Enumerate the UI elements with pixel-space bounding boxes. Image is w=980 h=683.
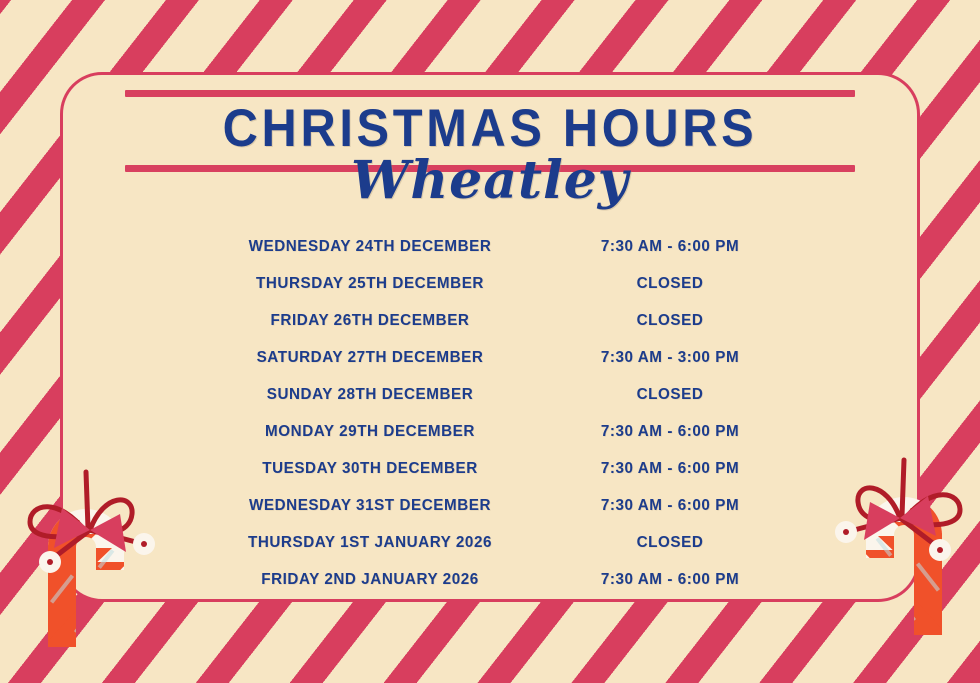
hours-value: CLOSED	[556, 312, 784, 330]
divider-rule-top	[125, 90, 855, 97]
hours-value: 7:30 AM - 6:00 PM	[556, 571, 784, 589]
table-row: FRIDAY 26TH DECEMBER CLOSED	[190, 302, 790, 339]
day-label: FRIDAY 2ND JANUARY 2026	[199, 571, 541, 589]
christmas-hours-poster: CHRISTMAS HOURS Wheatley WEDNESDAY 24TH …	[0, 0, 980, 683]
day-label: WEDNESDAY 24TH DECEMBER	[199, 238, 541, 256]
table-row: WEDNESDAY 31ST DECEMBER 7:30 AM - 6:00 P…	[190, 487, 790, 524]
candy-cane-icon	[8, 452, 168, 652]
hours-value: 7:30 AM - 3:00 PM	[556, 349, 784, 367]
table-row: THURSDAY 25TH DECEMBER CLOSED	[190, 265, 790, 302]
table-row: SUNDAY 28TH DECEMBER CLOSED	[190, 376, 790, 413]
day-label: MONDAY 29TH DECEMBER	[199, 423, 541, 441]
hours-value: 7:30 AM - 6:00 PM	[556, 460, 784, 478]
table-row: SATURDAY 27TH DECEMBER 7:30 AM - 3:00 PM	[190, 339, 790, 376]
hours-value: 7:30 AM - 6:00 PM	[556, 238, 784, 256]
day-label: SATURDAY 27TH DECEMBER	[199, 349, 541, 367]
hours-value: 7:30 AM - 6:00 PM	[556, 423, 784, 441]
table-row: TUESDAY 30TH DECEMBER 7:30 AM - 6:00 PM	[190, 450, 790, 487]
location-subtitle: Wheatley	[0, 150, 980, 211]
hours-value: 7:30 AM - 6:00 PM	[556, 497, 784, 515]
table-row: FRIDAY 2ND JANUARY 2026 7:30 AM - 6:00 P…	[190, 561, 790, 598]
table-row: THURSDAY 1ST JANUARY 2026 CLOSED	[190, 524, 790, 561]
day-label: SUNDAY 28TH DECEMBER	[199, 386, 541, 404]
table-row: MONDAY 29TH DECEMBER 7:30 AM - 6:00 PM	[190, 413, 790, 450]
day-label: TUESDAY 30TH DECEMBER	[199, 460, 541, 478]
table-row: WEDNESDAY 24TH DECEMBER 7:30 AM - 6:00 P…	[190, 228, 790, 265]
opening-hours-table: WEDNESDAY 24TH DECEMBER 7:30 AM - 6:00 P…	[190, 228, 790, 598]
hours-value: CLOSED	[556, 275, 784, 293]
day-label: FRIDAY 26TH DECEMBER	[199, 312, 541, 330]
hours-value: CLOSED	[556, 386, 784, 404]
day-label: THURSDAY 1ST JANUARY 2026	[199, 534, 541, 552]
day-label: WEDNESDAY 31ST DECEMBER	[199, 497, 541, 515]
hours-value: CLOSED	[556, 534, 784, 552]
day-label: THURSDAY 25TH DECEMBER	[199, 275, 541, 293]
candy-cane-icon	[822, 440, 980, 640]
